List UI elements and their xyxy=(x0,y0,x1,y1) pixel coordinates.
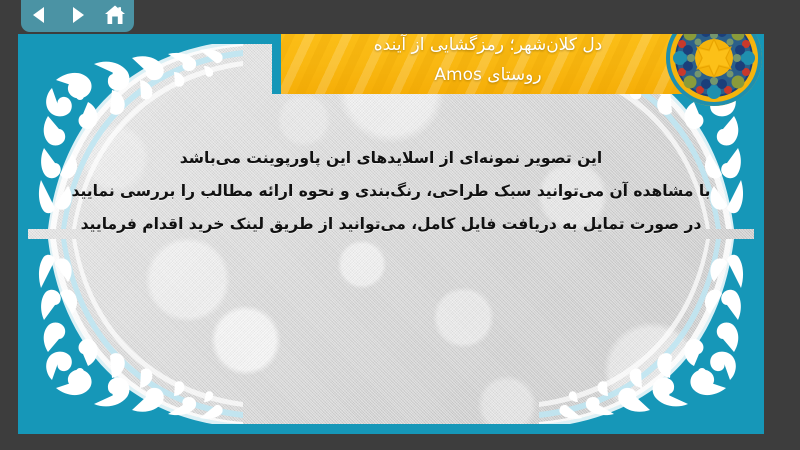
slide-canvas: این تصویر نمونه‌ای از اسلایدهای این پاور… xyxy=(28,44,754,424)
slide-body-text: این تصویر نمونه‌ای از اسلایدهای این پاور… xyxy=(68,142,714,241)
ornament-corner-bottom-right xyxy=(539,239,754,424)
body-line-3: در صورت تمایل به دریافت فایل کامل، می‌تو… xyxy=(68,208,714,241)
banner-accent-stripe xyxy=(272,25,281,94)
triangle-right-icon xyxy=(67,5,87,25)
triangle-left-icon xyxy=(30,5,50,25)
viewer-toolbar xyxy=(0,0,800,34)
slide-viewer: این تصویر نمونه‌ای از اسلایدهای این پاور… xyxy=(0,0,800,450)
previous-slide-button[interactable] xyxy=(26,2,54,28)
ornament-corner-bottom-left xyxy=(28,239,243,424)
home-button[interactable] xyxy=(101,2,129,28)
body-line-1: این تصویر نمونه‌ای از اسلایدهای این پاور… xyxy=(68,142,714,175)
home-icon xyxy=(104,4,126,26)
next-slide-button[interactable] xyxy=(63,2,91,28)
navigation-panel xyxy=(21,0,134,32)
slide-frame: این تصویر نمونه‌ای از اسلایدهای این پاور… xyxy=(18,34,764,434)
body-line-2: با مشاهده آن می‌توانید سبک طراحی، رنگ‌بن… xyxy=(68,175,714,208)
slide-title-banner xyxy=(272,25,708,94)
